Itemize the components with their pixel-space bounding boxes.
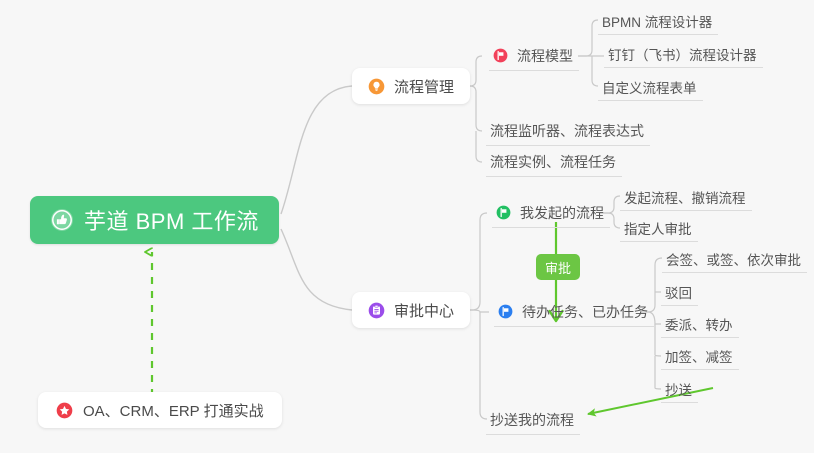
leaf-node-cc[interactable]: 抄送: [661, 375, 698, 403]
leaf-label-cc: 抄送: [665, 379, 692, 399]
edge-root-to-process-management: [281, 86, 352, 214]
leaf-label-reject: 驳回: [665, 282, 692, 302]
leaf-node-bpmn-designer[interactable]: BPMN 流程设计器: [598, 7, 718, 35]
leaf-node-process-listener[interactable]: 流程监听器、流程表达式: [486, 116, 650, 146]
leaf-node-custom-form[interactable]: 自定义流程表单: [598, 73, 703, 101]
leaf-node-reject[interactable]: 驳回: [661, 278, 698, 306]
leaf-label-process-listener: 流程监听器、流程表达式: [490, 121, 644, 141]
root-node[interactable]: 芋道 BPM 工作流: [30, 196, 279, 244]
leaf-label-bpmn-designer: BPMN 流程设计器: [602, 11, 712, 31]
branch-label-process-management: 流程管理: [394, 76, 454, 97]
leaf-node-add-remove-sign[interactable]: 加签、减签: [661, 342, 739, 370]
approval-badge-label: 审批: [545, 258, 571, 277]
leaf-label-launch-cancel: 发起流程、撤销流程: [624, 187, 746, 207]
approval-badge: 审批: [536, 254, 580, 280]
aside-label-integration: OA、CRM、ERP 打通实战: [83, 400, 264, 421]
leaf-label-add-remove-sign: 加签、减签: [665, 346, 733, 366]
leaf-label-my-initiated: 我发起的流程: [520, 203, 604, 223]
thumbs-up-icon: [50, 208, 74, 232]
leaf-label-process-model: 流程模型: [517, 46, 573, 66]
leaf-label-delegate-transfer: 委派、转办: [665, 314, 733, 334]
green-flag-icon: [496, 205, 511, 220]
branch-node-approval-center[interactable]: 审批中心: [352, 292, 470, 328]
edge-root-to-approval-center: [281, 229, 352, 310]
leaf-node-my-initiated[interactable]: 我发起的流程: [492, 198, 610, 228]
leaf-node-process-instance[interactable]: 流程实例、流程任务: [486, 147, 622, 177]
leaf-node-launch-cancel[interactable]: 发起流程、撤销流程: [620, 183, 752, 211]
leaf-node-process-model[interactable]: 流程模型: [489, 41, 579, 71]
clipboard-icon: [368, 302, 385, 319]
mindmap-canvas: 芋道 BPM 工作流 流程管理 审批中心: [0, 0, 814, 453]
edge-pm-to-instance: [476, 131, 482, 162]
root-label: 芋道 BPM 工作流: [84, 204, 259, 236]
aside-node-integration[interactable]: OA、CRM、ERP 打通实战: [38, 392, 282, 428]
branch-label-approval-center: 审批中心: [394, 300, 454, 321]
leaf-node-assignee-approval[interactable]: 指定人审批: [620, 214, 698, 242]
leaf-node-todo-done-tasks[interactable]: 待办任务、已办任务: [494, 297, 654, 327]
blue-flag-icon: [498, 304, 513, 319]
leaf-node-cc-to-me[interactable]: 抄送我的流程: [486, 405, 580, 435]
leaf-label-assignee-approval: 指定人审批: [624, 218, 692, 238]
edge-ac-to-cc: [480, 312, 487, 419]
leaf-label-process-instance: 流程实例、流程任务: [490, 152, 616, 172]
leaf-label-custom-form: 自定义流程表单: [602, 77, 697, 97]
leaf-label-cc-to-me: 抄送我的流程: [490, 410, 574, 430]
red-flag-icon: [493, 48, 508, 63]
leaf-label-countersign: 会签、或签、依次审批: [666, 249, 801, 269]
branch-node-process-management[interactable]: 流程管理: [352, 68, 470, 104]
leaf-node-delegate-transfer[interactable]: 委派、转办: [661, 310, 739, 338]
leaf-node-countersign[interactable]: 会签、或签、依次审批: [662, 245, 807, 273]
edge-model-to-bpmn: [578, 20, 598, 56]
star-icon: [56, 402, 73, 419]
leaf-label-dingtalk-designer: 钉钉（飞书）流程设计器: [608, 44, 757, 64]
leaf-node-dingtalk-designer[interactable]: 钉钉（飞书）流程设计器: [604, 40, 763, 68]
leaf-label-todo-done-tasks: 待办任务、已办任务: [522, 302, 648, 322]
lightbulb-icon: [368, 78, 385, 95]
